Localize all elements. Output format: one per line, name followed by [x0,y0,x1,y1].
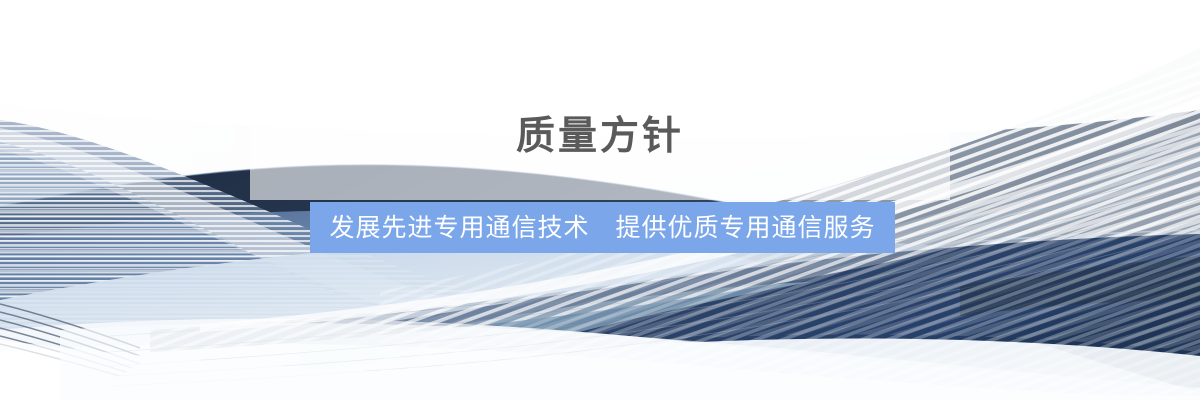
slogan-text: 发展先进专用通信技术 提供优质专用通信服务 [329,202,875,253]
slogan-bar: 发展先进专用通信技术 提供优质专用通信服务 [310,202,895,253]
abstract-wave-background [0,0,1200,400]
quality-policy-banner: 质量方针 发展先进专用通信技术 提供优质专用通信服务 [0,0,1200,400]
page-title: 质量方针 [0,114,1200,160]
